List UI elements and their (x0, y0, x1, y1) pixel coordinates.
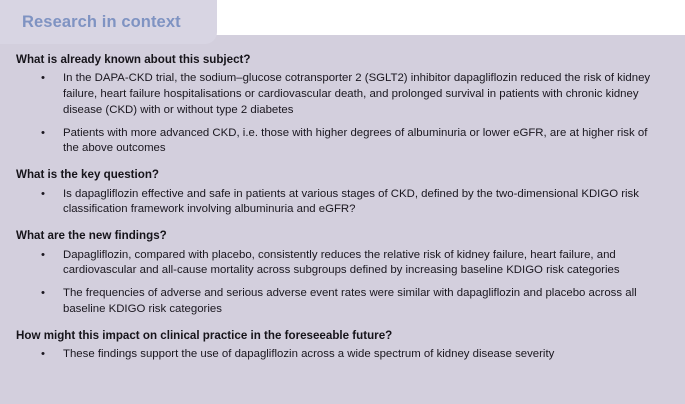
bullet-point-icon: • (41, 126, 45, 142)
list-item-text: Patients with more advanced CKD, i.e. th… (63, 126, 665, 157)
list-item: • The frequencies of adverse and serious… (16, 286, 671, 317)
section-heading: How might this impact on clinical practi… (16, 318, 671, 347)
list-item: • In the DAPA-CKD trial, the sodium–gluc… (16, 71, 671, 118)
bullet-point-icon: • (41, 286, 45, 302)
panel-content: What is already known about this subject… (0, 44, 685, 404)
section-new-findings: What are the new findings? • Dapaglifloz… (16, 218, 671, 317)
list-item-text: Dapagliflozin, compared with placebo, co… (63, 248, 665, 279)
list-item: • Is dapagliflozin effective and safe in… (16, 187, 671, 218)
bullet-point-icon: • (41, 347, 45, 363)
list-item: • These findings support the use of dapa… (16, 347, 671, 363)
bullet-point-icon: • (41, 71, 45, 87)
list-item: • Patients with more advanced CKD, i.e. … (16, 126, 671, 157)
research-in-context-panel: Research in context What is already know… (0, 0, 685, 404)
bullet-point-icon: • (41, 187, 45, 203)
list-item-text: The frequencies of adverse and serious a… (63, 286, 665, 317)
section-clinical-practice-impact: How might this impact on clinical practi… (16, 318, 671, 363)
panel-title-tab: Research in context (0, 0, 217, 44)
list-item-text: These findings support the use of dapagl… (63, 347, 665, 363)
list-item-text: In the DAPA-CKD trial, the sodium–glucos… (63, 71, 665, 118)
bullet-list: • Is dapagliflozin effective and safe in… (16, 187, 671, 218)
section-what-is-already-known: What is already known about this subject… (16, 44, 671, 157)
list-item: • Dapagliflozin, compared with placebo, … (16, 248, 671, 279)
bullet-point-icon: • (41, 248, 45, 264)
section-key-question: What is the key question? • Is dapaglifl… (16, 157, 671, 218)
bullet-list: • In the DAPA-CKD trial, the sodium–gluc… (16, 71, 671, 157)
list-item-text: Is dapagliflozin effective and safe in p… (63, 187, 665, 218)
section-heading: What is already known about this subject… (16, 44, 671, 71)
section-heading: What is the key question? (16, 157, 671, 186)
bullet-list: • These findings support the use of dapa… (16, 347, 671, 363)
page-title: Research in context (22, 14, 181, 31)
bullet-list: • Dapagliflozin, compared with placebo, … (16, 248, 671, 318)
section-heading: What are the new findings? (16, 218, 671, 247)
